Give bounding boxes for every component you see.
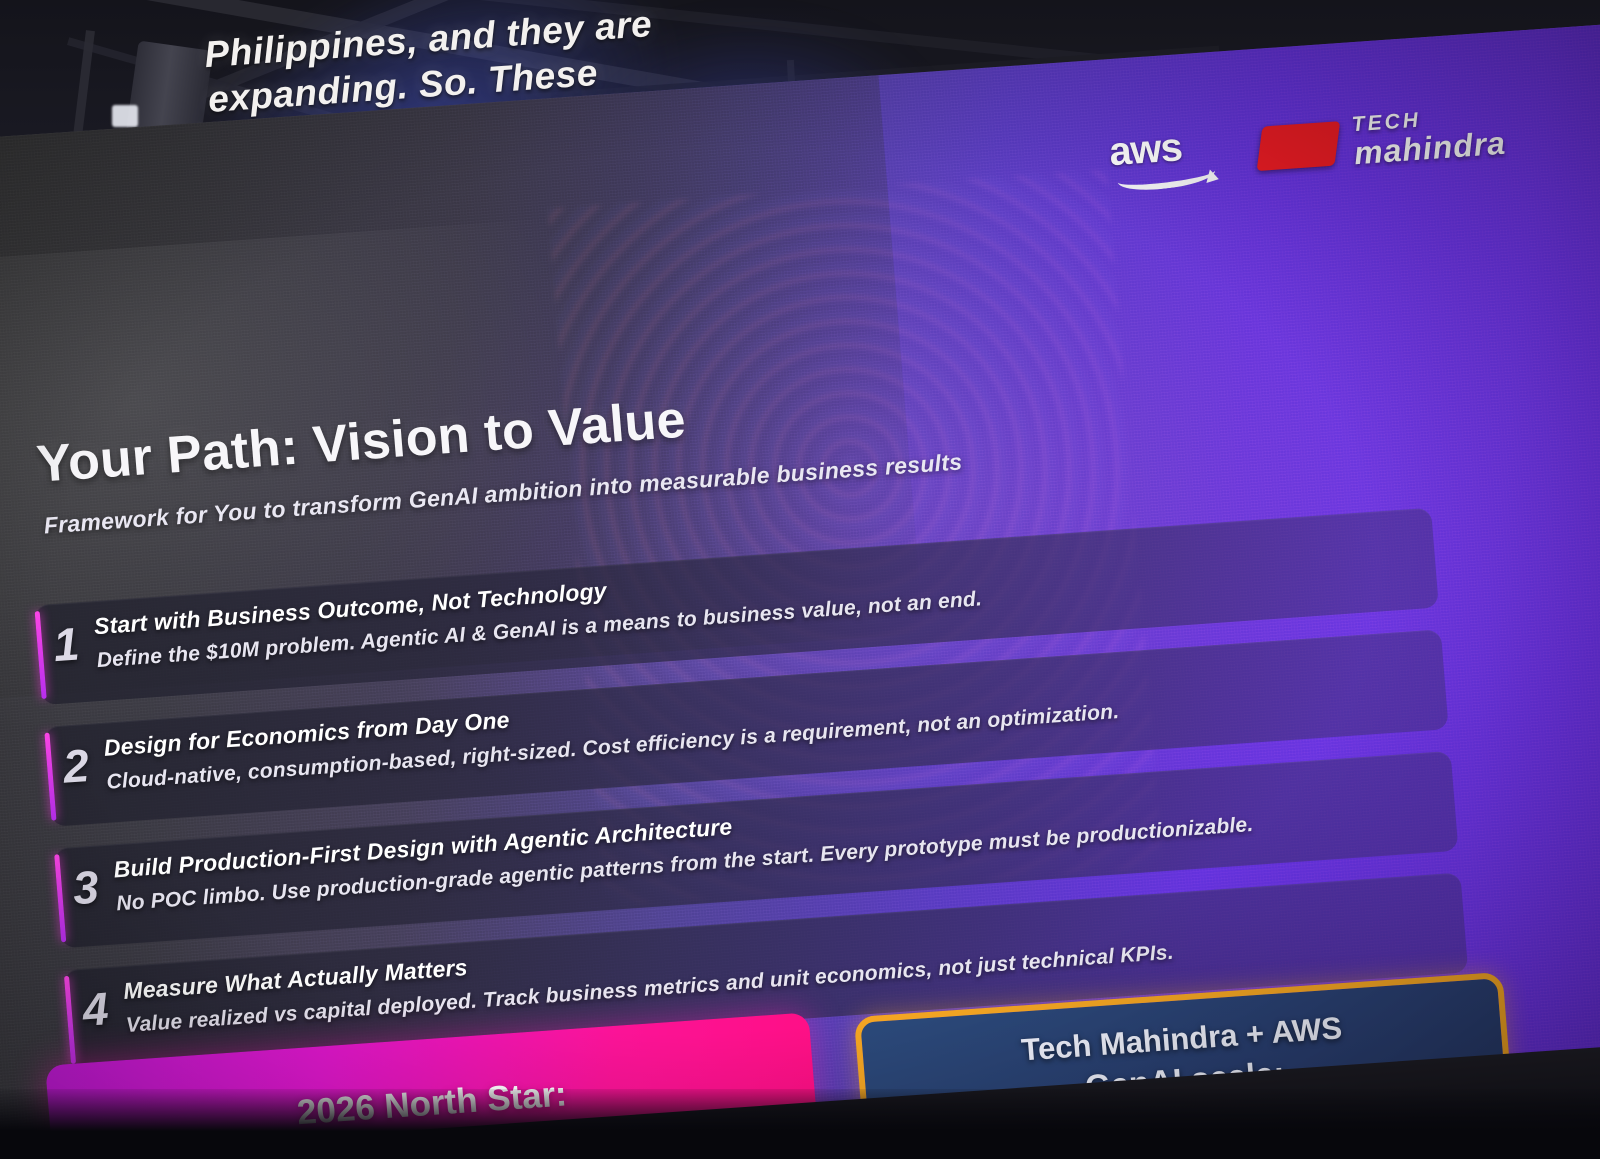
tech-mahindra-logo: TECH mahindra [1257,104,1507,176]
projection-screen-wrapper: Philippines, and they are expanding. So.… [0,0,1600,1159]
projection-screen: aws TECH mahindra Your Path: Vision to V… [0,24,1600,1159]
step-number: 4 [81,981,111,1037]
step-number: 2 [61,738,91,794]
step-number: 1 [51,616,81,672]
photo-of-presentation-screen: Philippines, and they are expanding. So.… [0,0,1600,1159]
tech-mahindra-wordmark: TECH mahindra [1351,104,1507,169]
step-accent-bar [64,976,76,1064]
aws-logo: aws [1108,124,1222,185]
step-accent-bar [54,854,66,942]
step-accent-bar [35,611,47,699]
foreground-shadow [0,1089,1600,1159]
step-number: 3 [71,860,101,916]
step-accent-bar [44,733,56,821]
logo-group: aws TECH mahindra [1108,104,1507,186]
tech-mahindra-line2: mahindra [1353,127,1507,170]
tech-mahindra-red-mark-icon [1257,121,1341,171]
